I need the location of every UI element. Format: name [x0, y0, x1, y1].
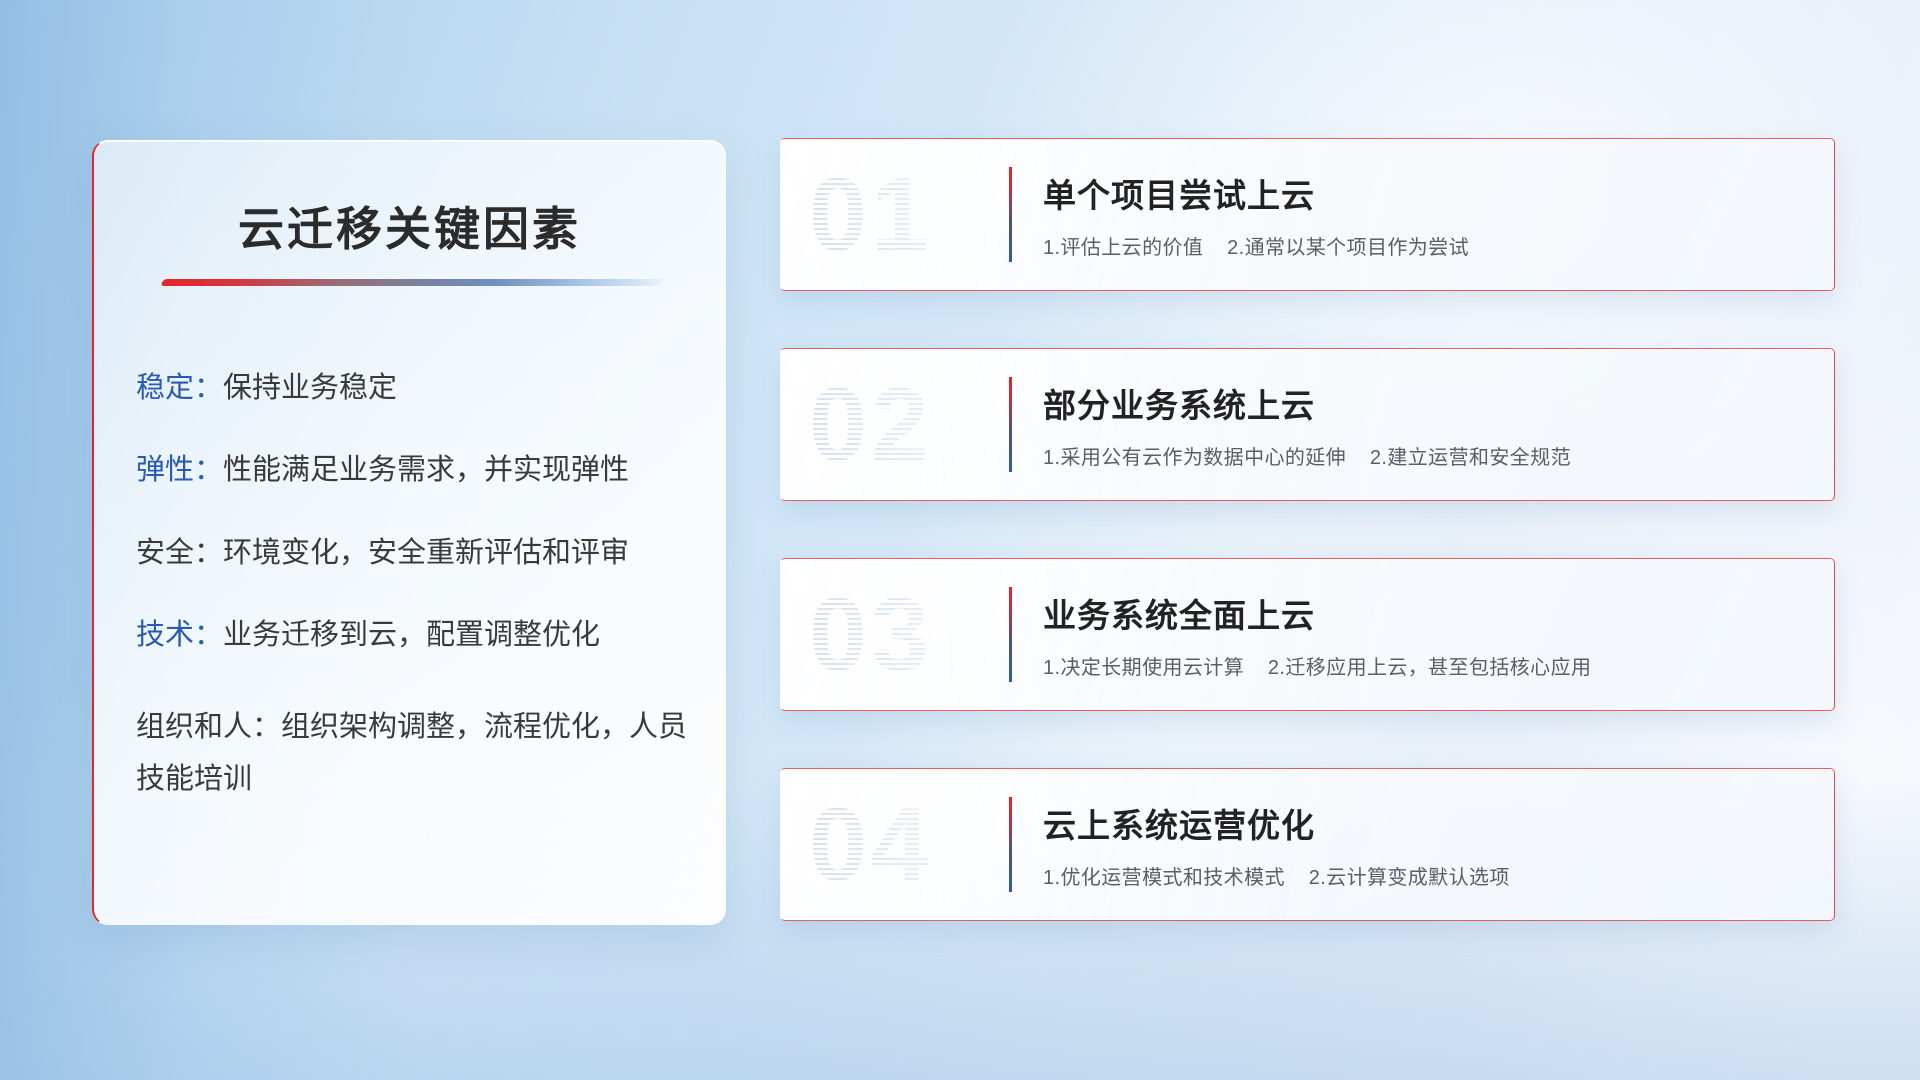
list-item-label: 组织和人：: [136, 711, 281, 743]
list-item-label: 稳定：: [136, 372, 223, 404]
list-item-text: 业务迁移到云，配置调整优化: [223, 619, 600, 651]
card-accent-divider: [1009, 377, 1012, 472]
card-body: 部分业务系统上云 1.采用公有云作为数据中心的延伸 2.建立运营和安全规范: [1043, 349, 1810, 500]
card-accent-divider: [1009, 587, 1012, 682]
stage-title: 云上系统运营优化: [1043, 799, 1810, 847]
stage-card[interactable]: 03 业务系统全面上云 1.决定长期使用云计算 2.迁移应用上云，甚至包括核心应…: [780, 558, 1835, 711]
stage-subtitle: 1.优化运营模式和技术模式 2.云计算变成默认选项: [1043, 861, 1810, 890]
list-item: 组织和人：组织架构调整，流程优化，人员技能培训: [136, 701, 699, 807]
card-body: 云上系统运营优化 1.优化运营模式和技术模式 2.云计算变成默认选项: [1043, 769, 1810, 920]
stage-number-watermark: 03: [809, 583, 933, 687]
stage-title: 单个项目尝试上云: [1043, 169, 1810, 217]
stage-title: 业务系统全面上云: [1043, 589, 1810, 637]
list-item-text: 环境变化，安全重新评估和评审: [223, 537, 629, 569]
title-underline-accent: [160, 279, 663, 286]
slide-stage: 云迁移关键因素 稳定：保持业务稳定 弹性：性能满足业务需求，并实现弹性 安全：环…: [0, 0, 1920, 1080]
card-body: 业务系统全面上云 1.决定长期使用云计算 2.迁移应用上云，甚至包括核心应用: [1043, 559, 1810, 710]
stage-number-watermark: 01: [809, 163, 933, 267]
stage-number-watermark: 04: [809, 793, 933, 897]
list-item-label: 弹性：: [136, 454, 223, 486]
list-item-label: 技术：: [136, 619, 223, 651]
list-item: 弹性：性能满足业务需求，并实现弹性: [136, 453, 699, 488]
card-accent-divider: [1009, 167, 1012, 262]
stage-card[interactable]: 02 部分业务系统上云 1.采用公有云作为数据中心的延伸 2.建立运营和安全规范: [780, 348, 1835, 501]
panel-title: 云迁移关键因素: [94, 193, 725, 259]
list-item: 稳定：保持业务稳定: [136, 371, 699, 406]
list-item-text: 性能满足业务需求，并实现弹性: [223, 454, 629, 486]
stage-number-watermark: 02: [809, 373, 933, 477]
stage-subtitle: 1.决定长期使用云计算 2.迁移应用上云，甚至包括核心应用: [1043, 651, 1810, 680]
list-item: 安全：环境变化，安全重新评估和评审: [136, 536, 699, 571]
stage-title: 部分业务系统上云: [1043, 379, 1810, 427]
list-item: 技术：业务迁移到云，配置调整优化: [136, 618, 699, 653]
key-factors-list: 稳定：保持业务稳定 弹性：性能满足业务需求，并实现弹性 安全：环境变化，安全重新…: [136, 371, 699, 806]
list-item-label: 安全：: [136, 537, 223, 569]
stage-card[interactable]: 01 单个项目尝试上云 1.评估上云的价值 2.通常以某个项目作为尝试: [780, 138, 1835, 291]
card-body: 单个项目尝试上云 1.评估上云的价值 2.通常以某个项目作为尝试: [1043, 139, 1810, 290]
list-item-text: 保持业务稳定: [223, 372, 397, 404]
card-accent-divider: [1009, 797, 1012, 892]
migration-stages-list: 01 单个项目尝试上云 1.评估上云的价值 2.通常以某个项目作为尝试 02 部…: [780, 138, 1835, 921]
key-factors-panel: 云迁移关键因素 稳定：保持业务稳定 弹性：性能满足业务需求，并实现弹性 安全：环…: [92, 140, 726, 925]
stage-subtitle: 1.采用公有云作为数据中心的延伸 2.建立运营和安全规范: [1043, 441, 1810, 470]
stage-card[interactable]: 04 云上系统运营优化 1.优化运营模式和技术模式 2.云计算变成默认选项: [780, 768, 1835, 921]
stage-subtitle: 1.评估上云的价值 2.通常以某个项目作为尝试: [1043, 231, 1810, 260]
